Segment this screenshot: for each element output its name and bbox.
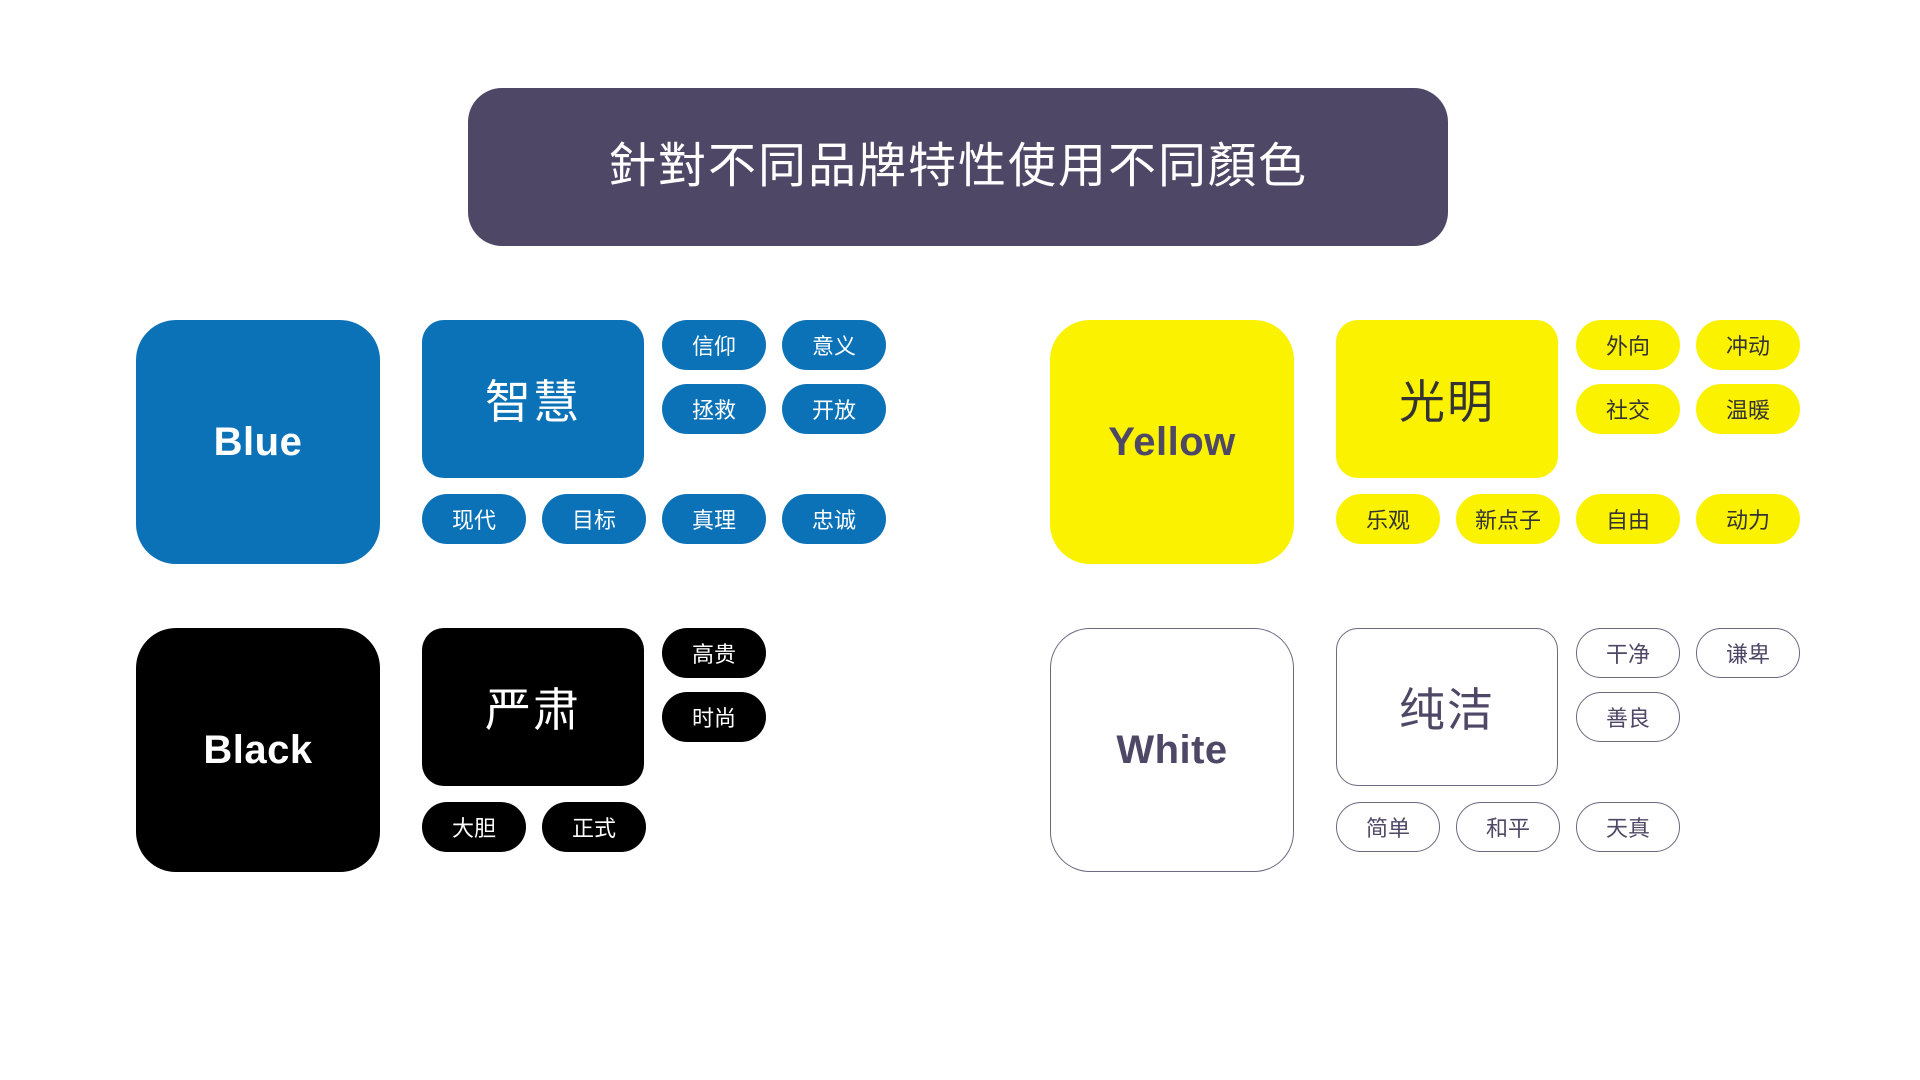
color-row-2: Black 严肃 高贵 时尚 [0, 628, 1920, 872]
color-card-top-black: 严肃 高贵 时尚 [422, 628, 1006, 786]
tag-row-bottom-white: 简单 和平 天真 [1336, 802, 1920, 852]
color-swatch-label-white: White [1116, 728, 1227, 773]
color-swatch-blue[interactable]: Blue [136, 320, 380, 564]
color-card-body-blue: 智慧 信仰 意义 拯救 开放 现代 目标 [422, 320, 1006, 544]
color-card-top-yellow: 光明 外向 冲动 社交 温暖 [1336, 320, 1920, 478]
tag-matrix-black: 高贵 时尚 [662, 628, 766, 742]
tag-chip[interactable]: 大胆 [422, 802, 526, 852]
tag-chip[interactable]: 真理 [662, 494, 766, 544]
tag-chip[interactable]: 拯救 [662, 384, 766, 434]
keyword-label-yellow: 光明 [1399, 366, 1495, 432]
color-card-white[interactable]: White 纯洁 干净 谦卑 善良 [1050, 628, 1920, 872]
color-swatch-label-black: Black [203, 728, 312, 773]
keyword-label-white: 纯洁 [1399, 674, 1495, 740]
tag-chip[interactable]: 简单 [1336, 802, 1440, 852]
tag-chip[interactable]: 动力 [1696, 494, 1800, 544]
tag-line: 干净 谦卑 [1576, 628, 1800, 678]
tag-chip[interactable]: 时尚 [662, 692, 766, 742]
tag-matrix-white: 干净 谦卑 善良 [1576, 628, 1800, 742]
tag-line: 善良 [1576, 692, 1800, 742]
color-card-blue[interactable]: Blue 智慧 信仰 意义 拯救 开放 [136, 320, 1006, 564]
tag-chip[interactable]: 现代 [422, 494, 526, 544]
tag-chip[interactable]: 意义 [782, 320, 886, 370]
tag-chip[interactable]: 信仰 [662, 320, 766, 370]
tag-chip[interactable]: 新点子 [1456, 494, 1560, 544]
color-row-1: Blue 智慧 信仰 意义 拯救 开放 [0, 320, 1920, 564]
tag-chip[interactable]: 忠诚 [782, 494, 886, 544]
tag-line: 信仰 意义 [662, 320, 886, 370]
tag-line: 高贵 [662, 628, 766, 678]
tag-chip[interactable]: 开放 [782, 384, 886, 434]
tag-row-bottom-yellow: 乐观 新点子 自由 动力 [1336, 494, 1920, 544]
tag-chip[interactable]: 温暖 [1696, 384, 1800, 434]
page-title: 針對不同品牌特性使用不同顏色 [608, 138, 1308, 196]
tag-chip[interactable]: 干净 [1576, 628, 1680, 678]
color-swatch-white[interactable]: White [1050, 628, 1294, 872]
color-swatch-yellow[interactable]: Yellow [1050, 320, 1294, 564]
tag-chip[interactable]: 自由 [1576, 494, 1680, 544]
tag-chip[interactable]: 正式 [542, 802, 646, 852]
tag-line: 拯救 开放 [662, 384, 886, 434]
tag-line: 外向 冲动 [1576, 320, 1800, 370]
color-swatch-label-blue: Blue [214, 420, 303, 465]
tag-chip[interactable]: 和平 [1456, 802, 1560, 852]
color-card-body-yellow: 光明 外向 冲动 社交 温暖 乐观 新点子 [1336, 320, 1920, 544]
keyword-box-white[interactable]: 纯洁 [1336, 628, 1558, 786]
tag-row-bottom-blue: 现代 目标 真理 忠诚 [422, 494, 1006, 544]
color-characteristics-grid: Blue 智慧 信仰 意义 拯救 开放 [0, 320, 1920, 872]
keyword-box-blue[interactable]: 智慧 [422, 320, 644, 478]
page-title-banner: 針對不同品牌特性使用不同顏色 [468, 88, 1448, 246]
color-card-top-blue: 智慧 信仰 意义 拯救 开放 [422, 320, 1006, 478]
tag-chip[interactable]: 天真 [1576, 802, 1680, 852]
color-card-body-black: 严肃 高贵 时尚 大胆 正式 [422, 628, 1006, 852]
tag-chip[interactable]: 外向 [1576, 320, 1680, 370]
tag-chip[interactable]: 善良 [1576, 692, 1680, 742]
color-card-yellow[interactable]: Yellow 光明 外向 冲动 社交 温暖 [1050, 320, 1920, 564]
tag-chip[interactable]: 社交 [1576, 384, 1680, 434]
keyword-box-black[interactable]: 严肃 [422, 628, 644, 786]
color-card-body-white: 纯洁 干净 谦卑 善良 简单 和平 天真 [1336, 628, 1920, 852]
tag-line: 社交 温暖 [1576, 384, 1800, 434]
color-swatch-label-yellow: Yellow [1108, 420, 1236, 465]
tag-matrix-yellow: 外向 冲动 社交 温暖 [1576, 320, 1800, 434]
color-swatch-black[interactable]: Black [136, 628, 380, 872]
keyword-box-yellow[interactable]: 光明 [1336, 320, 1558, 478]
tag-chip[interactable]: 冲动 [1696, 320, 1800, 370]
color-card-black[interactable]: Black 严肃 高贵 时尚 [136, 628, 1006, 872]
tag-row-bottom-black: 大胆 正式 [422, 802, 1006, 852]
keyword-label-black: 严肃 [485, 674, 581, 740]
tag-chip[interactable]: 谦卑 [1696, 628, 1800, 678]
tag-chip[interactable]: 高贵 [662, 628, 766, 678]
tag-chip[interactable]: 目标 [542, 494, 646, 544]
tag-chip[interactable]: 乐观 [1336, 494, 1440, 544]
keyword-label-blue: 智慧 [485, 366, 581, 432]
tag-matrix-blue: 信仰 意义 拯救 开放 [662, 320, 886, 434]
color-card-top-white: 纯洁 干净 谦卑 善良 [1336, 628, 1920, 786]
tag-line: 时尚 [662, 692, 766, 742]
